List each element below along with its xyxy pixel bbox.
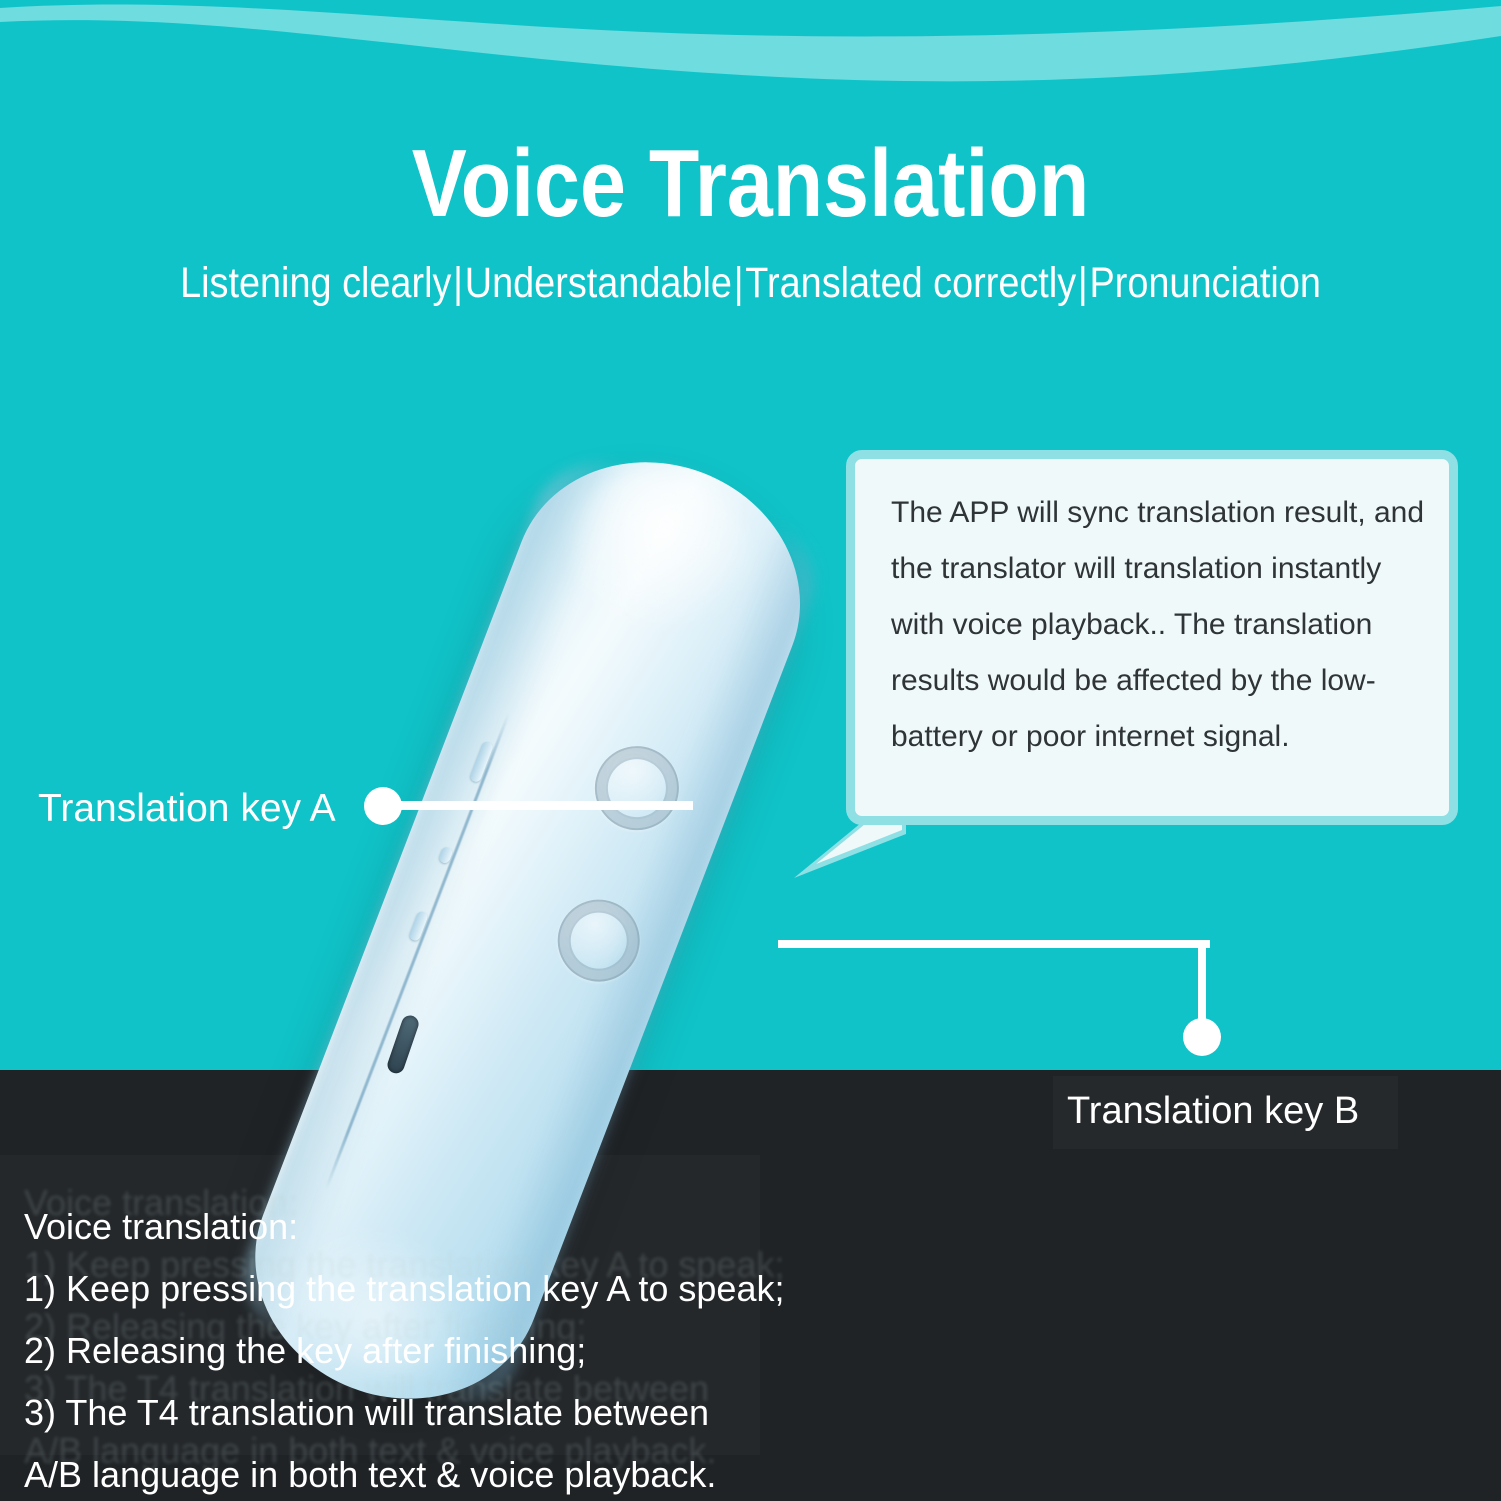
header-wave-decoration — [0, 0, 1501, 130]
instructions-step-3: 3) The T4 translation will translate bet… — [24, 1382, 724, 1501]
translation-key-a-leader-line — [398, 801, 693, 810]
instructions-step-2: 2) Releasing the key after finishing; — [24, 1320, 724, 1382]
subtitle-separator-1: | — [451, 262, 464, 305]
page-title: Voice Translation — [105, 136, 1396, 232]
subtitle-part-3: Translated correctly — [745, 259, 1076, 307]
translation-key-b-leader-line-horizontal — [778, 940, 1210, 948]
instructions-step-1: 1) Keep pressing the translation key A t… — [24, 1258, 724, 1320]
subtitle-separator-3: | — [1076, 262, 1089, 305]
translation-key-a-label: Translation key A — [38, 786, 336, 832]
callout-bubble-text: The APP will sync translation result, an… — [891, 485, 1436, 765]
subtitle-part-4: Pronunciation — [1090, 259, 1321, 307]
instructions-heading: Voice translation: — [24, 1196, 724, 1258]
voice-translation-infographic: Voice Translation Listening clearly|Unde… — [0, 0, 1501, 1501]
translation-key-b-marker-dot — [1183, 1018, 1221, 1056]
translation-key-a-marker-dot — [364, 787, 402, 825]
page-subtitle: Listening clearly|Understandable|Transla… — [90, 262, 1411, 305]
subtitle-part-1: Listening clearly — [180, 259, 451, 307]
app-sync-callout-bubble: The APP will sync translation result, an… — [846, 450, 1458, 825]
subtitle-part-2: Understandable — [465, 259, 732, 307]
translation-key-b-label: Translation key B — [1067, 1088, 1359, 1134]
subtitle-separator-2: | — [732, 262, 745, 305]
instructions-block: Voice translation: 1) Keep pressing the … — [24, 1196, 724, 1501]
